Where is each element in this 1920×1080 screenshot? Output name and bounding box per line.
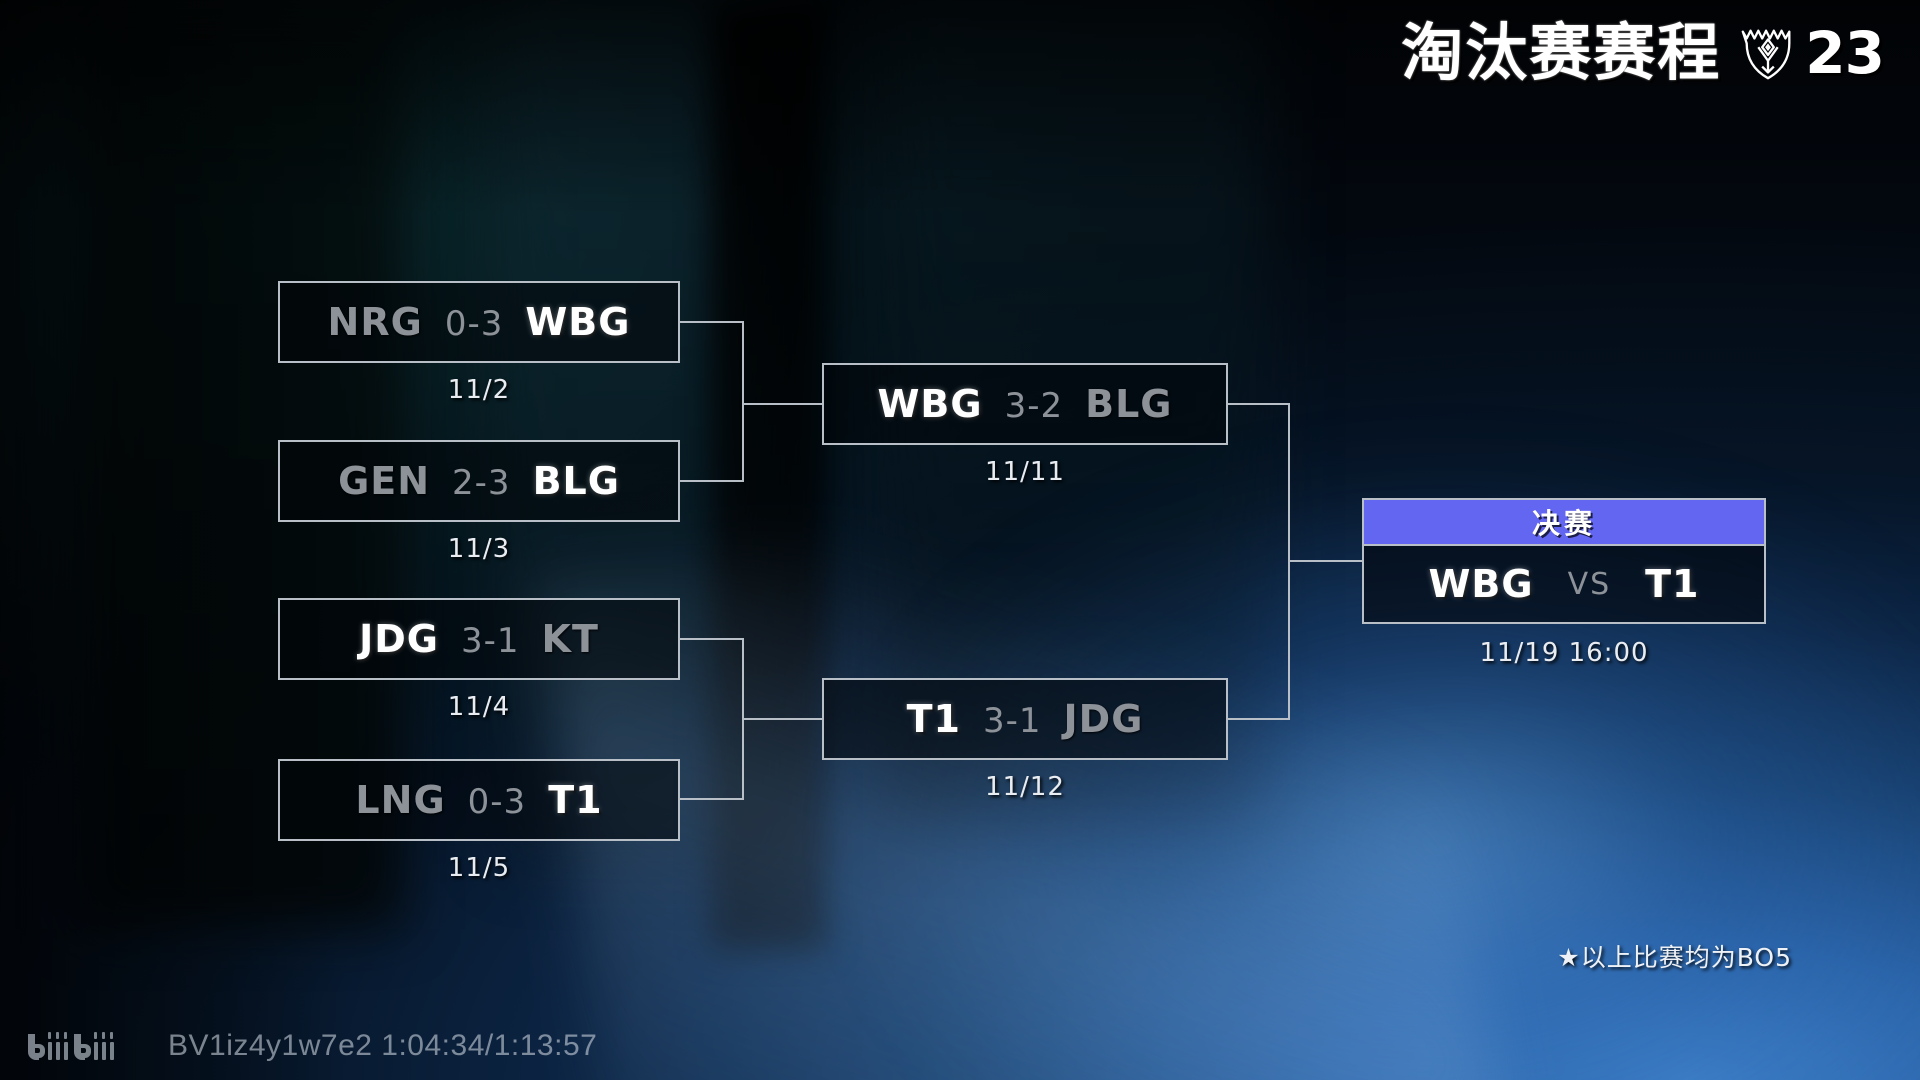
connector-qf2-out — [680, 480, 744, 482]
team-left: T1 — [907, 697, 961, 741]
match-semifinal-2[interactable]: T1 3-1 JDG — [822, 678, 1228, 760]
team-right: WBG — [525, 300, 630, 344]
match-final[interactable]: 决赛 WBG VS T1 — [1362, 498, 1766, 624]
connector-sf1-out — [1228, 403, 1290, 405]
match-date-semifinal-2: 11/12 — [822, 772, 1228, 802]
team-left: WBG — [878, 382, 983, 426]
match-row: LNG 0-3 T1 — [280, 778, 678, 822]
match-score: 0-3 — [445, 304, 504, 344]
page-header: 淘汰赛赛程 23 — [1401, 22, 1884, 84]
match-row: GEN 2-3 BLG — [280, 459, 678, 503]
connector-final-in — [1288, 560, 1364, 562]
final-label: 决赛 — [1364, 500, 1764, 546]
match-quarterfinal-1[interactable]: NRG 0-3 WBG — [278, 281, 680, 363]
worlds-year: 23 — [1805, 24, 1884, 82]
page-title: 淘汰赛赛程 — [1401, 22, 1721, 84]
team-right: KT — [542, 617, 599, 661]
team-left: GEN — [338, 459, 430, 503]
connector-sf2-in — [742, 718, 824, 720]
team-right: T1 — [1645, 562, 1699, 606]
match-date-quarterfinal-1: 11/2 — [278, 375, 680, 405]
team-right: BLG — [1085, 382, 1172, 426]
match-date-final: 11/19 16:00 — [1362, 638, 1766, 668]
team-left: JDG — [359, 617, 439, 661]
match-date-semifinal-1: 11/11 — [822, 457, 1228, 487]
connector-qf4-out — [680, 798, 744, 800]
team-left: NRG — [328, 300, 423, 344]
bilibili-watermark: BV1iz4y1w7e2 1:04:34/1:13:57 — [26, 1026, 597, 1066]
match-row: WBG 3-2 BLG — [824, 382, 1226, 426]
match-date-quarterfinal-3: 11/4 — [278, 692, 680, 722]
team-left: LNG — [355, 778, 445, 822]
connector-sf2-out — [1228, 718, 1290, 720]
connector-qf1-out — [680, 321, 744, 323]
match-score: 3-1 — [983, 701, 1042, 741]
connector-sf1-in — [742, 403, 824, 405]
final-matchup: WBG VS T1 — [1364, 546, 1764, 622]
match-score: 2-3 — [452, 463, 511, 503]
worlds-crown-icon — [1737, 22, 1799, 84]
match-semifinal-1[interactable]: WBG 3-2 BLG — [822, 363, 1228, 445]
match-date-quarterfinal-2: 11/3 — [278, 534, 680, 564]
vs-separator: VS — [1568, 567, 1612, 602]
watermark-text: BV1iz4y1w7e2 1:04:34/1:13:57 — [168, 1029, 597, 1063]
connector-qf12-join — [742, 321, 744, 482]
team-right: JDG — [1064, 697, 1144, 741]
tournament-bracket: NRG 0-3 WBG 11/2 GEN 2-3 BLG 11/3 JDG 3-… — [0, 0, 1920, 1080]
team-left: WBG — [1428, 562, 1533, 606]
bilibili-logo-icon — [26, 1026, 154, 1066]
broadcast-screen: 淘汰赛赛程 23 NRG 0-3 WBG — [0, 0, 1920, 1080]
match-quarterfinal-3[interactable]: JDG 3-1 KT — [278, 598, 680, 680]
match-score: 3-2 — [1005, 386, 1064, 426]
match-score: 3-1 — [461, 621, 520, 661]
match-row: T1 3-1 JDG — [824, 697, 1226, 741]
worlds-branding: 23 — [1737, 22, 1884, 84]
connector-qf3-out — [680, 638, 744, 640]
team-right: T1 — [548, 778, 602, 822]
team-right: BLG — [533, 459, 620, 503]
match-row: NRG 0-3 WBG — [280, 300, 678, 344]
match-date-quarterfinal-4: 11/5 — [278, 853, 680, 883]
bo5-footnote: ★以上比赛均为BO5 — [1557, 938, 1792, 974]
match-quarterfinal-2[interactable]: GEN 2-3 BLG — [278, 440, 680, 522]
match-score: 0-3 — [468, 782, 527, 822]
match-quarterfinal-4[interactable]: LNG 0-3 T1 — [278, 759, 680, 841]
match-row: JDG 3-1 KT — [280, 617, 678, 661]
